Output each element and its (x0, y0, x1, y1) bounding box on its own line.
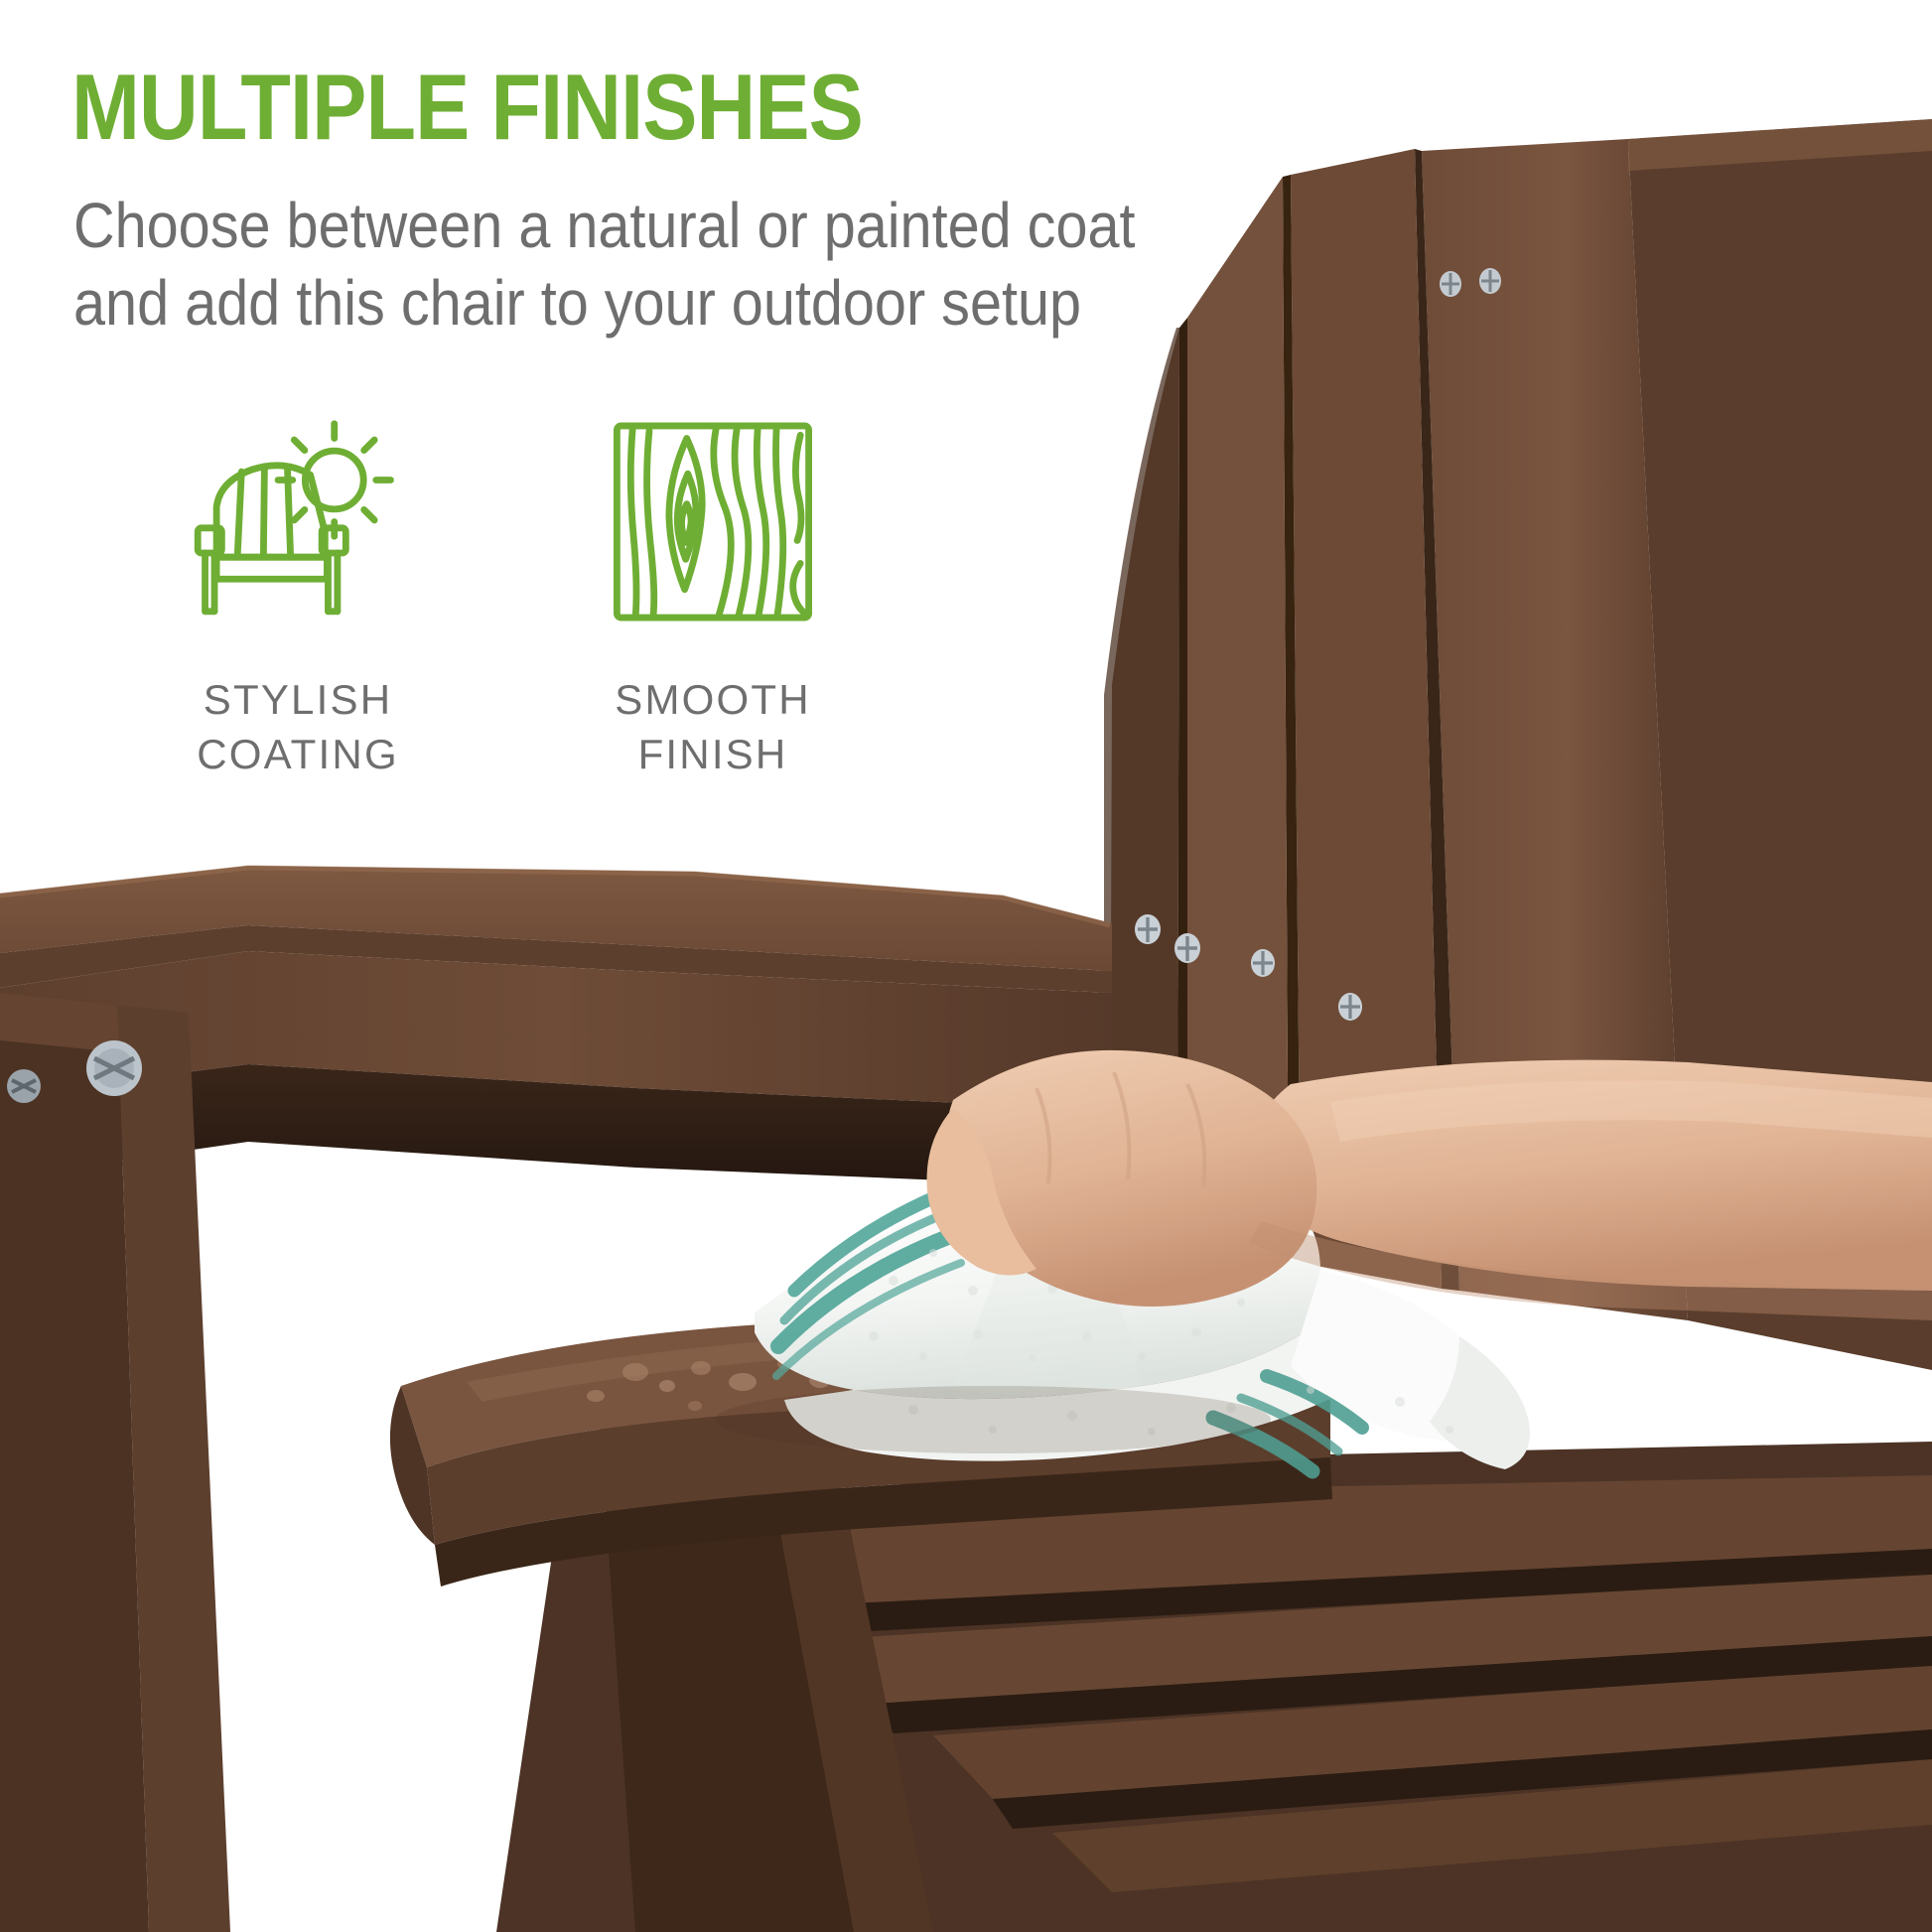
left-post-bolts (7, 1040, 142, 1103)
chair-backrest (1104, 119, 1932, 1370)
chair-left-post (0, 993, 230, 1932)
marketing-image-canvas: MULTIPLE FINISHES Choose between a natur… (0, 0, 1932, 1932)
wood-grain-icon (609, 415, 817, 628)
backrest-screws (1135, 268, 1501, 1021)
water-droplets (587, 1354, 1126, 1411)
adirondack-chair-sun-icon (194, 415, 402, 628)
feature-item-stylish-coating: STYLISH COATING (149, 415, 447, 782)
page-subtitle: Choose between a natural or painted coat… (73, 187, 1136, 342)
page-title: MULTIPLE FINISHES (71, 58, 863, 157)
cleaning-towel (755, 1161, 1530, 1471)
hand-and-forearm (927, 1050, 1932, 1320)
chair-arm-plate (390, 1311, 1332, 1587)
feature-label-smooth-finish: SMOOTH FINISH (615, 672, 811, 782)
chair-seat-slats (496, 1442, 1932, 1932)
chair-armrest-beam (0, 866, 1112, 1187)
feature-label-stylish-coating: STYLISH COATING (197, 672, 399, 782)
chair-seat-support (596, 1370, 933, 1932)
feature-list: STYLISH COATING (149, 415, 862, 782)
feature-item-smooth-finish: SMOOTH FINISH (564, 415, 862, 782)
